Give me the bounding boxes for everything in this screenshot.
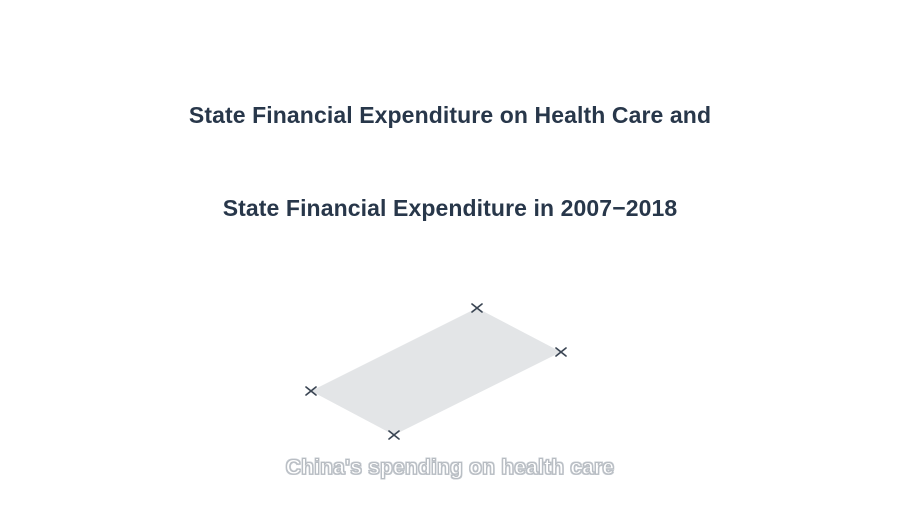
chart-canvas: State Financial Expenditure on Health Ca… <box>0 0 900 506</box>
plot-area-3d <box>0 0 900 506</box>
base-plane <box>311 308 561 435</box>
